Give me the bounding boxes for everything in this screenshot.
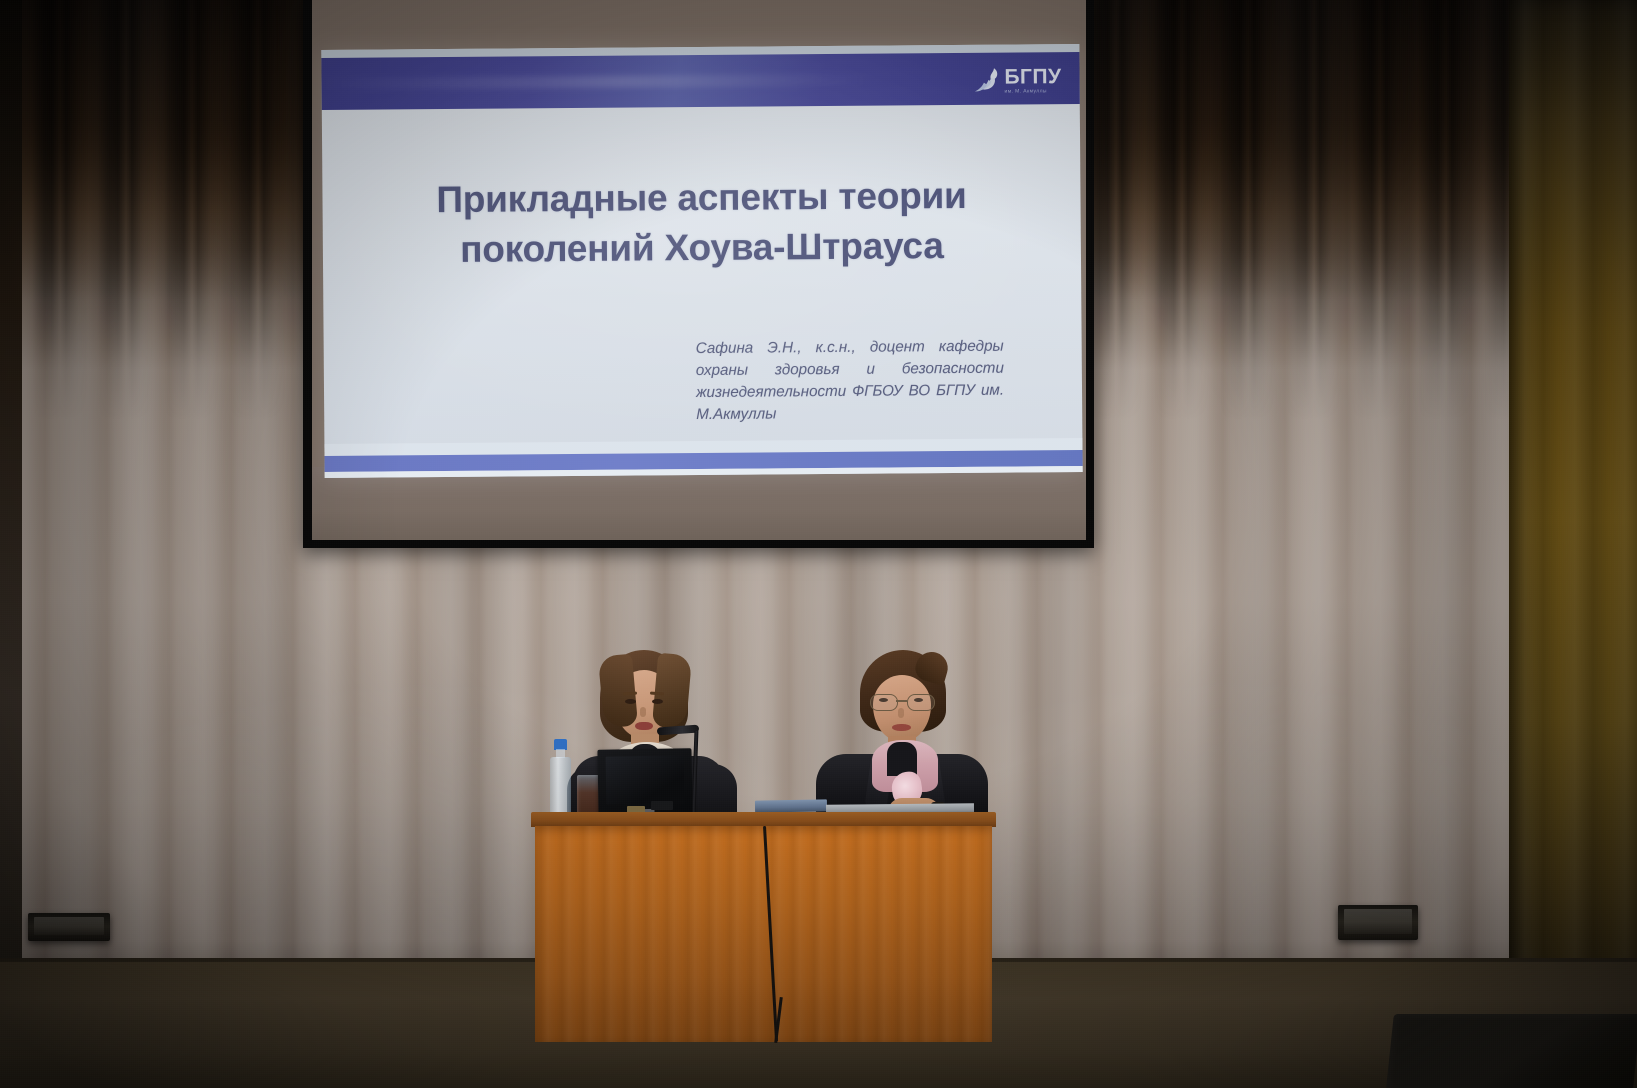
table-front-panel	[535, 826, 992, 1042]
desk-remote-control	[651, 801, 673, 810]
laptop	[597, 748, 692, 817]
auditorium-stage-scene: БГПУ им. М. Акмуллы Прикладные аспекты т…	[0, 0, 1637, 1088]
microphone-stand	[692, 731, 699, 813]
water-bottle	[550, 739, 571, 816]
blue-folder	[755, 799, 827, 812]
microphone-head	[657, 725, 699, 736]
presenters-table	[531, 812, 996, 1042]
bottle-body	[550, 757, 571, 816]
table-top-edge	[531, 812, 996, 827]
